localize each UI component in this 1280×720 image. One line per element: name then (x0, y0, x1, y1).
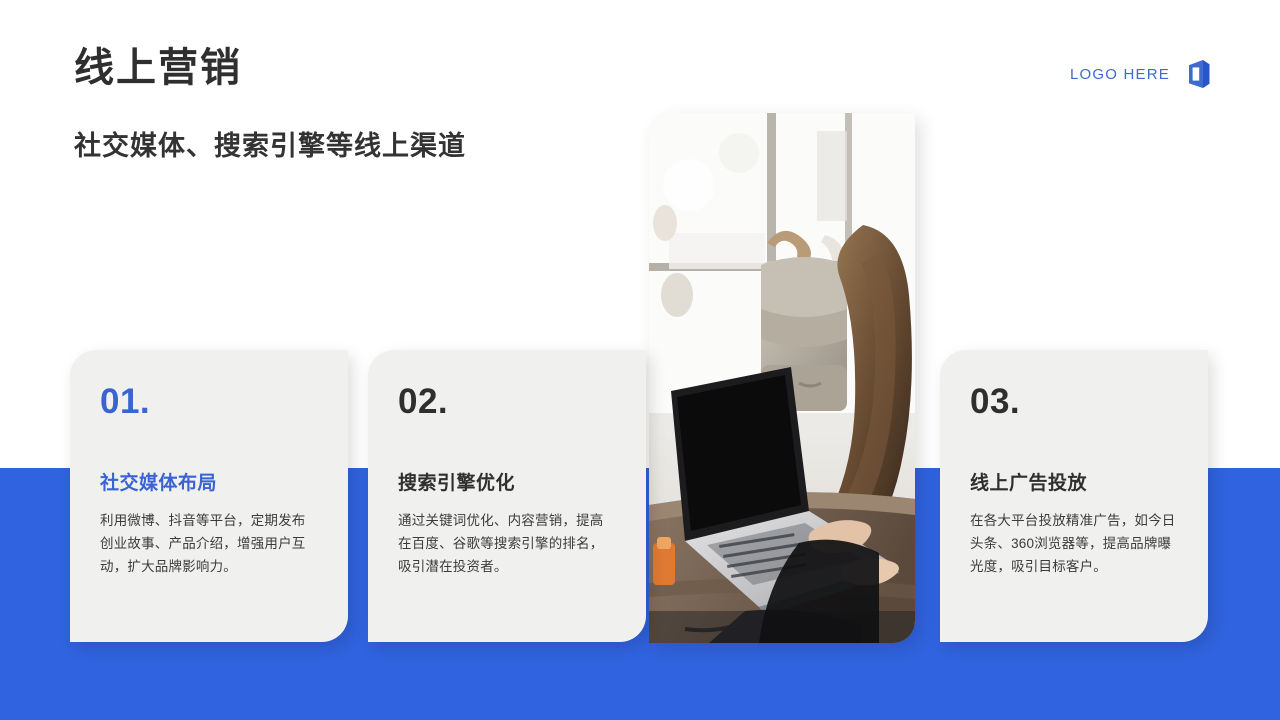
hero-photo (649, 113, 915, 643)
card-title: 社交媒体布局 (100, 473, 318, 496)
card-number: 02. (398, 384, 616, 419)
page-subtitle: 社交媒体、搜索引擎等线上渠道 (74, 130, 466, 164)
feature-card-1[interactable]: 01. 社交媒体布局 利用微博、抖音等平台，定期发布创业故事、产品介绍，增强用户… (70, 350, 348, 642)
card-body: 通过关键词优化、内容营销，提高在百度、谷歌等搜索引擎的排名，吸引潜在投资者。 (398, 509, 616, 579)
card-title: 搜索引擎优化 (398, 473, 616, 496)
card-number: 01. (100, 384, 318, 419)
logo-area: LOGO HERE (1070, 58, 1212, 90)
slide-canvas: 线上营销 社交媒体、搜索引擎等线上渠道 LOGO HERE (0, 0, 1280, 720)
card-body: 在各大平台投放精准广告，如今日头条、360浏览器等，提高品牌曝光度，吸引目标客户… (970, 509, 1178, 579)
card-title: 线上广告投放 (970, 473, 1178, 496)
feature-card-2[interactable]: 02. 搜索引擎优化 通过关键词优化、内容营销，提高在百度、谷歌等搜索引擎的排名… (368, 350, 646, 642)
office-logo-icon (1186, 58, 1212, 90)
page-title: 线上营销 (74, 44, 242, 92)
card-body: 利用微博、抖音等平台，定期发布创业故事、产品介绍，增强用户互动，扩大品牌影响力。 (100, 509, 318, 579)
logo-placeholder-text: LOGO HERE (1070, 66, 1170, 83)
feature-card-3[interactable]: 03. 线上广告投放 在各大平台投放精准广告，如今日头条、360浏览器等，提高品… (940, 350, 1208, 642)
card-number: 03. (970, 384, 1178, 419)
